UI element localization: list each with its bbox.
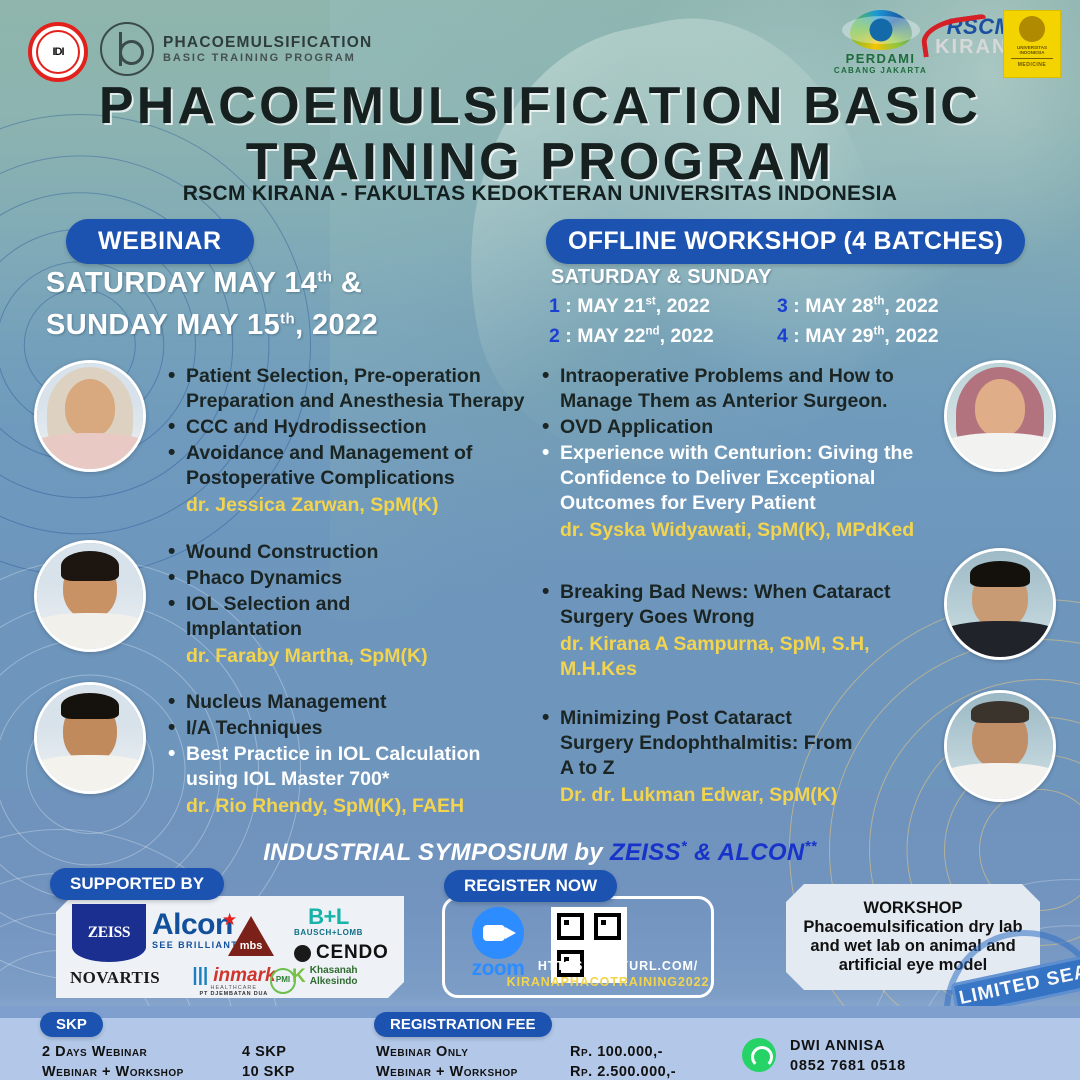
symposium-mid: & [687, 839, 718, 866]
topics-lukman-edwar: Minimizing Post Cataract Surgery Endopht… [540, 706, 860, 808]
symposium-sup2: ** [805, 838, 817, 855]
batch-4-sup: th [874, 326, 885, 338]
registration-fee-badge: REGISTRATION FEE [374, 1012, 552, 1037]
cendo-mark-icon [294, 945, 311, 962]
batch-4-date-pre: : MAY 29 [793, 325, 873, 347]
zoom-logo: zoom [461, 907, 535, 981]
universitas-indonesia-logo: UNIVERSITASINDONESIA MEDICINE [1003, 10, 1061, 78]
speaker-name-syska-widyawati: dr. Syska Widyawati, SpM(K), MPdKed [540, 518, 932, 543]
topic-item: I/A Techniques [166, 716, 516, 741]
avatar-jessica-zarwan [34, 360, 146, 472]
batch-4-number: 4 [777, 325, 788, 347]
register-panel[interactable]: zoom HTTPS://TINYURL.COM/ KIRANAPHACOTRA… [442, 896, 714, 998]
perdami-logo-text: PERDAMI [828, 51, 933, 66]
poster-canvas: IDI PHACOEMULSIFICATION BASIC TRAINING P… [0, 0, 1080, 1080]
topic-item: OVD Application [540, 415, 932, 440]
batch-3-date-pre: : MAY 28 [793, 295, 873, 317]
webinar-line2-post: , 2022 [295, 309, 378, 341]
topic-item: Patient Selection, Pre-operation Prepara… [166, 364, 536, 414]
speaker-name-lukman-edwar: Dr. dr. Lukman Edwar, SpM(K) [540, 783, 860, 808]
program-logo: PHACOEMULSIFICATION BASIC TRAINING PROGR… [100, 22, 372, 76]
skp-badge: SKP [40, 1012, 103, 1037]
perdami-logo: PERDAMI CABANG JAKARTA [828, 10, 933, 76]
bausch-lomb-logo-sub: BAUSCH+LOMB [294, 928, 363, 937]
bausch-lomb-logo: B+L BAUSCH+LOMB [294, 906, 363, 937]
ui-logo-sub: MEDICINE [1004, 62, 1060, 68]
batch-1-sup: st [646, 296, 656, 308]
skp-row-label: 2 Days Webinar [42, 1042, 242, 1062]
speaker-name-rio-rhendy: dr. Rio Rhendy, SpM(K), FAEH [166, 794, 516, 819]
page-title: PHACOEMULSIFICATION BASIC TRAINING PROGR… [0, 78, 1080, 190]
batch-1-date-post: , 2022 [656, 295, 710, 317]
registration-fee-table: Webinar Only Rp. 100.000,- Webinar + Wor… [376, 1042, 716, 1080]
sponsor-logos-panel: ZEISS Alcon SEE BRILLIANTLY ★ mbs B+L BA… [56, 896, 404, 998]
workshop-batch-4: 4 : MAY 29th, 2022 [777, 321, 1005, 351]
webinar-line1-sup: th [317, 268, 332, 285]
workshop-box-heading: WORKSHOP [864, 899, 963, 918]
fee-row-label: Webinar Only [376, 1042, 570, 1062]
topics-kirana-a-sampurna: Breaking Bad News: When Cataract Surgery… [540, 580, 920, 682]
topic-item: Avoidance and Management of Postoperativ… [166, 441, 536, 491]
zoom-camera-icon [472, 907, 524, 959]
fee-row-label: Webinar + Workshop [376, 1062, 570, 1080]
topic-item: CCC and Hydrodissection [166, 415, 536, 440]
topics-rio-rhendy: Nucleus Management I/A Techniques Best P… [166, 690, 516, 819]
fee-row-value: Rp. 2.500.000,- [570, 1062, 676, 1080]
webinar-line2-pre: SUNDAY MAY 15 [46, 309, 280, 341]
avatar-kirana-a-sampurna [944, 548, 1056, 660]
contact-phone: 0852 7681 0518 [790, 1056, 906, 1076]
batch-3-date-post: , 2022 [884, 295, 938, 317]
speaker-name-kirana-a-sampurna: dr. Kirana A Sampurna, SpM, S.H, M.H.Kes [540, 632, 920, 682]
supported-by-badge: SUPPORTED BY [50, 868, 224, 900]
batch-2-number: 2 [549, 325, 560, 347]
batch-3-number: 3 [777, 295, 788, 317]
topic-item: Experience with Centurion: Giving the Co… [540, 441, 932, 516]
cendo-logo: CENDO [294, 942, 389, 964]
khasanah-alkesindo-logo: K Khasanah Alkesindo [292, 966, 358, 987]
workshop-box-line1: Phacoemulsification dry lab [803, 918, 1022, 937]
batch-2-sup: nd [646, 326, 660, 338]
skp-row-value: 10 SKP [242, 1062, 295, 1080]
topic-item: IOL Selection and Implantation [166, 592, 376, 642]
skp-row-value: 4 SKP [242, 1042, 286, 1062]
symposium-brand-zeiss: ZEISS [610, 839, 681, 866]
inmark-logo-text: inmark [213, 965, 275, 986]
whatsapp-icon[interactable] [742, 1038, 776, 1072]
webinar-dates: SATURDAY MAY 14th & SUNDAY MAY 15th, 202… [46, 262, 526, 346]
ui-seal-icon [1019, 16, 1045, 42]
cendo-logo-text: CENDO [316, 942, 389, 964]
workshop-batch-2: 2 : MAY 22nd, 2022 [549, 321, 777, 351]
topic-item: Breaking Bad News: When Cataract Surgery… [540, 580, 920, 630]
program-logo-line1: PHACOEMULSIFICATION [163, 34, 372, 52]
batch-3-sup: th [874, 296, 885, 308]
batch-2-date-post: , 2022 [660, 325, 714, 347]
idi-logo-icon: IDI [28, 22, 88, 82]
workshop-batch-1: 1 : MAY 21st, 2022 [549, 291, 777, 321]
register-now-badge[interactable]: REGISTER NOW [444, 870, 617, 902]
register-url-line2: KIRANAPHACOTRAINING2022 [505, 975, 711, 989]
topics-jessica-zarwan: Patient Selection, Pre-operation Prepara… [166, 364, 536, 518]
avatar-syska-widyawati [944, 360, 1056, 472]
topic-item: Best Practice in IOL Calculation using I… [166, 742, 516, 792]
batch-2-date-pre: : MAY 22 [565, 325, 645, 347]
industrial-symposium-line: INDUSTRIAL SYMPOSIUM by ZEISS* & ALCON** [0, 838, 1080, 867]
avatar-lukman-edwar [944, 690, 1056, 802]
workshop-badge: OFFLINE WORKSHOP (4 BATCHES) [546, 219, 1025, 264]
workshop-days: SATURDAY & SUNDAY [551, 266, 772, 289]
topics-syska-widyawati: Intraoperative Problems and How to Manag… [540, 364, 932, 543]
bausch-lomb-logo-text: B+L [294, 906, 363, 928]
topic-item: Intraoperative Problems and How to Manag… [540, 364, 932, 414]
avatar-rio-rhendy [34, 682, 146, 794]
perdami-logo-sub: CABANG JAKARTA [828, 66, 933, 75]
register-url-line1: HTTPS://TINYURL.COM/ [525, 959, 711, 973]
program-logo-line2: BASIC TRAINING PROGRAM [163, 52, 372, 64]
mbs-star-icon: ★ [222, 910, 237, 930]
symposium-prefix: INDUSTRIAL SYMPOSIUM by [263, 839, 610, 866]
topic-item: Minimizing Post Cataract Surgery Endopht… [540, 706, 860, 781]
speaker-name-jessica-zarwan: dr. Jessica Zarwan, SpM(K) [166, 493, 536, 518]
zeiss-logo: ZEISS [72, 904, 146, 962]
inmark-logo: ||| inmark HEALTHCARE PT DJEMBATAN DUA [192, 966, 276, 997]
topic-item: Phaco Dynamics [166, 566, 516, 591]
batch-1-number: 1 [549, 295, 560, 317]
topic-item: Nucleus Management [166, 690, 516, 715]
page-subtitle: RSCM KIRANA - FAKULTAS KEDOKTERAN UNIVER… [0, 182, 1080, 206]
contact-info: DWI ANNISA 0852 7681 0518 [790, 1036, 906, 1077]
avatar-faraby-martha [34, 540, 146, 652]
workshop-batch-3: 3 : MAY 28th, 2022 [777, 291, 1005, 321]
speaker-name-faraby-martha: dr. Faraby Martha, SpM(K) [166, 644, 516, 669]
skp-table: 2 Days Webinar 4 SKP Webinar + Workshop … [42, 1042, 362, 1080]
webinar-line1-pre: SATURDAY MAY 14 [46, 267, 317, 299]
inmark-logo-sub2: PT DJEMBATAN DUA [192, 991, 276, 997]
topic-item: Wound Construction [166, 540, 516, 565]
skp-row-label: Webinar + Workshop [42, 1062, 242, 1080]
khasanah-logo-sub: Alkesindo [310, 977, 358, 988]
webinar-line1-post: & [332, 267, 362, 299]
webinar-line2-sup: th [280, 310, 295, 327]
contact-name: DWI ANNISA [790, 1036, 906, 1056]
khasanah-logo-text: Khasanah [310, 966, 358, 977]
batch-4-date-post: , 2022 [884, 325, 938, 347]
workshop-batches: 1 : MAY 21st, 2022 3 : MAY 28th, 2022 2 … [549, 291, 1069, 351]
program-logo-mark-icon [100, 22, 154, 76]
topics-faraby-martha: Wound Construction Phaco Dynamics IOL Se… [166, 540, 516, 669]
novartis-logo: NOVARTIS [70, 968, 160, 988]
fee-row-value: Rp. 100.000,- [570, 1042, 663, 1062]
khasanah-mark-icon: K [292, 967, 306, 986]
webinar-badge: WEBINAR [66, 219, 254, 264]
perdami-eye-icon [850, 10, 912, 50]
symposium-brand-alcon: ALCON [718, 839, 805, 866]
zeiss-logo-text: ZEISS [88, 924, 130, 942]
batch-1-date-pre: : MAY 21 [565, 295, 645, 317]
